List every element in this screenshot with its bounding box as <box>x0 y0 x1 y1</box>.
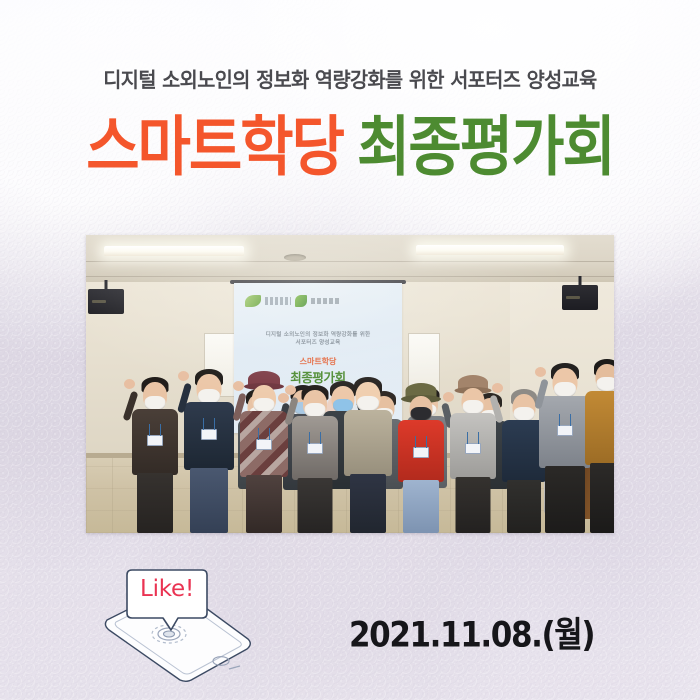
torso <box>585 391 614 465</box>
legs <box>137 473 173 533</box>
headline-block: 디지털 소외노인의 정보화 역량강화를 위한 서포터즈 양성교육 스마트학당최종… <box>0 70 700 172</box>
person-front <box>182 357 236 533</box>
legs <box>590 463 614 533</box>
screen-subtitle: 디지털 소외노인의 정보화 역량강화를 위한 서포터즈 양성교육 <box>234 331 402 348</box>
person-front <box>342 365 394 533</box>
torso <box>344 410 392 476</box>
ceiling-vent-icon <box>284 254 306 261</box>
poster-title-part-1: 스마트학당 <box>86 108 343 184</box>
logo-wordmark <box>265 297 291 305</box>
fist <box>178 371 189 381</box>
screen-subtitle-line-1: 디지털 소외노인의 정보화 역량강화를 위한 <box>234 331 402 339</box>
id-badge <box>557 425 573 436</box>
legs <box>456 477 491 533</box>
legs <box>350 474 386 533</box>
ceiling-seam <box>86 276 614 277</box>
id-badge <box>201 429 217 440</box>
crowd-group <box>86 347 614 533</box>
person-front <box>584 357 614 533</box>
poster-canvas: 디지털 소외노인의 정보화 역량강화를 위한 서포터즈 양성교육 스마트학당최종… <box>0 0 700 700</box>
id-badge <box>413 447 429 458</box>
person-front <box>448 365 498 533</box>
legs <box>545 466 585 533</box>
id-badge <box>307 443 323 454</box>
legs <box>507 480 541 533</box>
event-date: 2021.11.08.(월) <box>349 606 594 656</box>
face-mask <box>597 377 615 392</box>
leaf-logo-icon <box>295 295 307 307</box>
speaker-icon <box>88 289 124 314</box>
fist <box>124 379 135 389</box>
ceiling-seam <box>86 261 614 262</box>
person-front <box>238 363 290 533</box>
ceiling <box>86 235 614 282</box>
logo-wordmark <box>311 298 341 304</box>
legs <box>190 468 228 533</box>
ceiling-light-icon <box>416 245 564 255</box>
leaf-logo-icon <box>245 295 261 307</box>
fist <box>535 367 546 377</box>
fist <box>285 385 296 395</box>
person-front <box>290 367 340 533</box>
group-photo: 디지털 소외노인의 정보화 역량강화를 위한 서포터즈 양성교육 스마트학당 최… <box>86 235 614 533</box>
id-badge <box>465 443 481 454</box>
legs <box>403 480 439 533</box>
id-badge <box>147 435 163 446</box>
person-front <box>396 369 446 533</box>
id-badge <box>256 439 272 450</box>
screen-logo <box>245 295 341 307</box>
legs <box>246 475 282 533</box>
speaker-icon <box>562 285 598 310</box>
ceiling-light-icon <box>104 246 244 256</box>
poster-title-part-2: 최종평가회 <box>357 108 614 184</box>
person-front <box>130 361 180 533</box>
like-label: Like! <box>130 578 204 601</box>
fist <box>233 381 244 391</box>
poster-title: 스마트학당최종평가회 <box>0 114 700 179</box>
legs <box>298 478 333 533</box>
poster-subtitle: 디지털 소외노인의 정보화 역량강화를 위한 서포터즈 양성교육 <box>14 70 686 91</box>
phone-illustration: Like! <box>85 560 285 700</box>
